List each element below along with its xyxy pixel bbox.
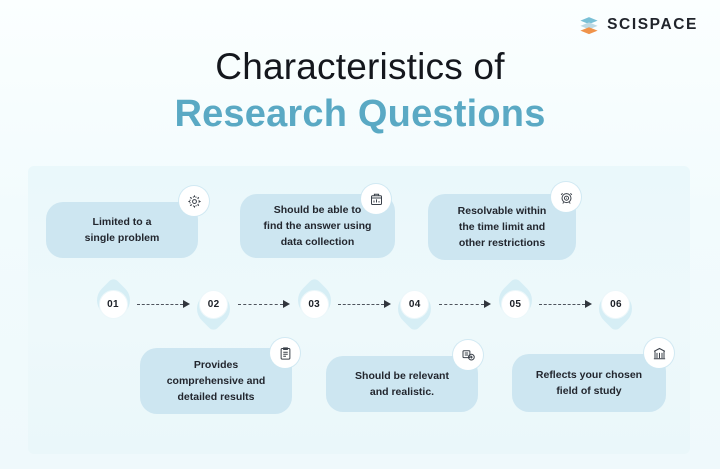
brand-name: SCISPACE	[607, 16, 698, 34]
target-bulb-icon	[461, 348, 476, 363]
step-number-06: 06	[601, 290, 630, 319]
characteristic-card-4[interactable]: Provides comprehensive and detailed resu…	[140, 348, 292, 414]
clipboard-document-icon	[278, 346, 293, 361]
connector-02-03	[238, 300, 291, 309]
card-4-line-2: comprehensive and	[167, 373, 266, 389]
step-badge-02[interactable]: 02	[193, 276, 235, 332]
connector-arrow-icon	[484, 300, 491, 308]
connector-03-04	[338, 300, 391, 309]
card-3-line-2: the time limit and	[458, 219, 547, 235]
clipboard-document-icon-badge	[270, 338, 300, 368]
connector-01-02	[137, 300, 190, 309]
stacked-layers-icon	[578, 14, 600, 36]
connector-05-06	[539, 300, 592, 309]
characteristic-card-5[interactable]: Should be relevant and realistic.	[326, 356, 478, 412]
card-2-line-2: find the answer using	[264, 218, 372, 234]
connector-arrow-icon	[283, 300, 290, 308]
connector-04-05	[439, 300, 492, 309]
step-badge-05[interactable]: 05	[494, 276, 536, 332]
card-5-line-1: Should be relevant	[355, 368, 449, 384]
alarm-clock-icon-badge	[551, 182, 581, 212]
connector-dash	[137, 304, 183, 305]
step-number-03: 03	[300, 290, 329, 319]
step-timeline: 01 02 03	[92, 274, 637, 334]
characteristic-card-1[interactable]: Limited to a single problem	[46, 202, 198, 258]
title-line-2: Research Questions	[0, 91, 720, 139]
step-badge-01[interactable]: 01	[92, 276, 134, 332]
card-3-line-3: other restrictions	[458, 235, 547, 251]
step-badge-04[interactable]: 04	[394, 276, 436, 332]
step-number-05: 05	[501, 290, 530, 319]
step-number-04: 04	[400, 290, 429, 319]
institution-building-icon-badge	[644, 338, 674, 368]
connector-arrow-icon	[585, 300, 592, 308]
card-1-line-2: single problem	[85, 230, 160, 246]
gear-icon-badge	[179, 186, 209, 216]
step-badge-06[interactable]: 06	[595, 276, 637, 332]
card-6-line-2: field of study	[536, 383, 642, 399]
gear-icon	[187, 194, 202, 209]
card-4-line-1: Provides	[167, 357, 266, 373]
connector-arrow-icon	[384, 300, 391, 308]
diagram-panel: Limited to a single problem Should be ab…	[28, 166, 690, 454]
step-number-01: 01	[99, 290, 128, 319]
connector-dash	[539, 304, 585, 305]
characteristic-card-6[interactable]: Reflects your chosen field of study	[512, 354, 666, 412]
scispace-logo: SCISPACE	[578, 14, 698, 36]
connector-arrow-icon	[183, 300, 190, 308]
card-3-line-1: Resolvable within	[458, 203, 547, 219]
institution-building-icon	[652, 346, 667, 361]
card-4-line-3: detailed results	[167, 389, 266, 405]
card-6-line-1: Reflects your chosen	[536, 367, 642, 383]
card-2-line-1: Should be able to	[264, 202, 372, 218]
title-line-1: Characteristics of	[0, 44, 720, 89]
connector-dash	[439, 304, 485, 305]
data-chart-icon-badge	[361, 184, 391, 214]
card-5-line-2: and realistic.	[355, 384, 449, 400]
connector-dash	[338, 304, 384, 305]
card-1-line-1: Limited to a	[85, 214, 160, 230]
alarm-clock-icon	[559, 190, 574, 205]
page-title: Characteristics of Research Questions	[0, 44, 720, 139]
step-badge-03[interactable]: 03	[293, 276, 335, 332]
data-chart-icon	[369, 192, 384, 207]
infographic-canvas: SCISPACE Characteristics of Research Que…	[0, 0, 720, 469]
target-bulb-icon-badge	[453, 340, 483, 370]
card-2-line-3: data collection	[264, 234, 372, 250]
step-number-02: 02	[199, 290, 228, 319]
connector-dash	[238, 304, 284, 305]
